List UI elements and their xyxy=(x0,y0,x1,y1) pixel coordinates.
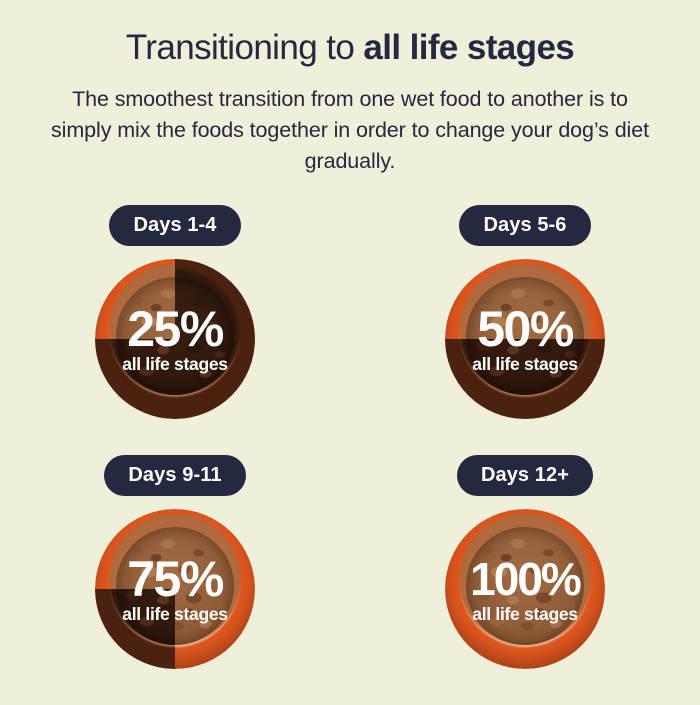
infographic-page: Transitioning to all life stages The smo… xyxy=(0,0,700,700)
stage-card-3: Days 9-11 75% all life stages xyxy=(0,455,350,705)
bowl-graphic-4 xyxy=(445,509,605,669)
page-title: Transitioning to all life stages xyxy=(0,26,700,70)
stage-card-2: Days 5-6 50% all life stages xyxy=(350,205,700,455)
bowl-graphic-2 xyxy=(445,259,605,419)
page-title-bold: all life stages xyxy=(363,28,574,67)
stage-badge-days-12-plus: Days 12+ xyxy=(457,455,593,496)
stage-badge-days-5-6: Days 5-6 xyxy=(459,205,590,246)
bowl-new-food-texture-4 xyxy=(466,527,584,645)
stage-card-1: Days 1-4 25% all life stages xyxy=(0,205,350,455)
food-bowl-4: 100% all life stages xyxy=(445,509,605,669)
page-title-regular: Transitioning to xyxy=(126,28,364,67)
bowl-graphic-1 xyxy=(95,259,255,419)
stage-card-4: Days 12+ 100% all life stages xyxy=(350,455,700,705)
stage-badge-days-9-11: Days 9-11 xyxy=(104,455,245,496)
food-bowl-3: 75% all life stages xyxy=(95,509,255,669)
stage-grid: Days 1-4 25% all life stages Days 5-6 xyxy=(0,205,700,705)
food-bowl-2: 50% all life stages xyxy=(445,259,605,419)
header: Transitioning to all life stages The smo… xyxy=(0,0,700,177)
bowl-graphic-3 xyxy=(95,509,255,669)
page-subtitle: The smoothest transition from one wet fo… xyxy=(40,84,660,177)
stage-badge-days-1-4: Days 1-4 xyxy=(109,205,240,246)
food-bowl-1: 25% all life stages xyxy=(95,259,255,419)
